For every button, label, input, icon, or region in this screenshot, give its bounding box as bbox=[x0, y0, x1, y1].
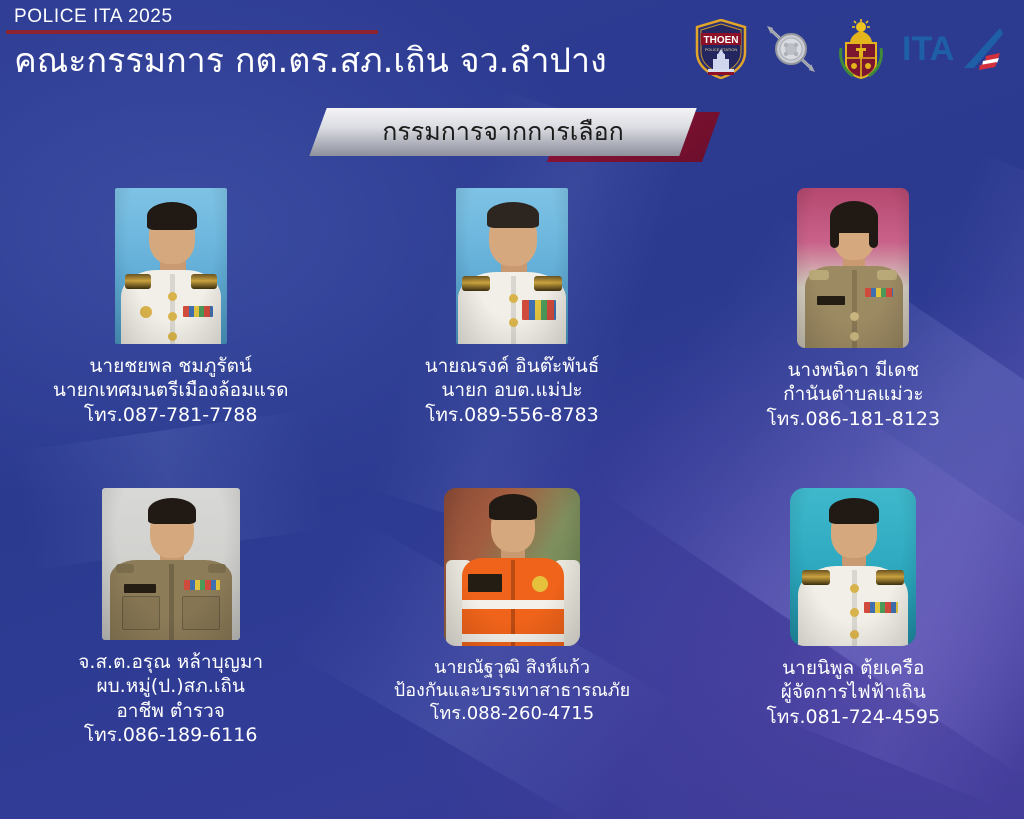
member-name: นายณัฐวุฒิ สิงห์แก้ว bbox=[394, 656, 630, 679]
members-grid: นายชยพล ชมภูรัตน์ นายกเทศมนตรีเมืองล้อมแ… bbox=[0, 188, 1024, 808]
member-caption-4: จ.ส.ต.อรุณ หล้าบุญมา ผบ.หมู่(ป.)สภ.เถิน … bbox=[78, 650, 263, 747]
member-name: นายชยพล ชมภูรัตน์ bbox=[53, 354, 289, 378]
member-position: นายกเทศมนตรีเมืองล้อมแรด bbox=[53, 378, 289, 402]
royal-thai-police-crest-logo bbox=[834, 18, 888, 80]
member-caption-5: นายณัฐวุฒิ สิงห์แก้ว ป้องกันและบรรเทาสาธ… bbox=[394, 656, 630, 725]
member-photo-4 bbox=[102, 488, 240, 640]
banner-label: กรรมการจากการเลือก bbox=[318, 108, 688, 156]
member-card-2[interactable]: นายณรงค์ อินต๊ะพันธ์ นายก อบต.แม่ปะ โทร.… bbox=[341, 188, 682, 488]
member-card-3[interactable]: นางพนิดา มีเดช กำนันตำบลแม่วะ โทร.086-18… bbox=[683, 188, 1024, 488]
member-phone: โทร.081-724-4595 bbox=[767, 705, 941, 729]
page-title: คณะกรรมการ กต.ตร.สภ.เถิน จว.ลำปาง bbox=[14, 33, 607, 87]
members-row: จ.ส.ต.อรุณ หล้าบุญมา ผบ.หมู่(ป.)สภ.เถิน … bbox=[0, 488, 1024, 808]
eyebrow-label: POLICE ITA 2025 bbox=[14, 6, 173, 28]
slide-root: POLICE ITA 2025 คณะกรรมการ กต.ตร.สภ.เถิน… bbox=[0, 0, 1024, 819]
member-card-5[interactable]: นายณัฐวุฒิ สิงห์แก้ว ป้องกันและบรรเทาสาธ… bbox=[341, 488, 682, 808]
member-card-4[interactable]: จ.ส.ต.อรุณ หล้าบุญมา ผบ.หมู่(ป.)สภ.เถิน … bbox=[0, 488, 341, 808]
member-occupation: อาชีพ ตำรวจ bbox=[78, 699, 263, 723]
member-position: ป้องกันและบรรเทาสาธารณภัย bbox=[394, 679, 630, 702]
member-phone: โทร.086-189-6116 bbox=[78, 723, 263, 747]
member-position: ผบ.หมู่(ป.)สภ.เถิน bbox=[78, 674, 263, 698]
section-banner: กรรมการจากการเลือก bbox=[318, 108, 714, 158]
logo-row: THOEN POLICE STATION bbox=[694, 18, 1006, 80]
member-phone: โทร.089-556-8783 bbox=[425, 403, 600, 427]
member-photo-6 bbox=[790, 488, 916, 646]
member-phone: โทร.088-260-4715 bbox=[394, 702, 630, 725]
svg-text:THOEN: THOEN bbox=[704, 35, 739, 46]
svg-text:ITA: ITA bbox=[902, 30, 954, 68]
member-position: นายก อบต.แม่ปะ bbox=[425, 378, 600, 402]
member-caption-3: นางพนิดา มีเดช กำนันตำบลแม่วะ โทร.086-18… bbox=[767, 358, 941, 431]
member-phone: โทร.087-781-7788 bbox=[53, 403, 289, 427]
member-caption-6: นายนิพูล ตุ้ยเครือ ผู้จัดการไฟฟ้าเถิน โท… bbox=[767, 656, 941, 729]
member-position: ผู้จัดการไฟฟ้าเถิน bbox=[767, 680, 941, 704]
member-card-1[interactable]: นายชยพล ชมภูรัตน์ นายกเทศมนตรีเมืองล้อมแ… bbox=[0, 188, 341, 488]
member-photo-3 bbox=[797, 188, 909, 348]
ita-logo: ITA bbox=[902, 26, 1006, 72]
member-card-6[interactable]: นายนิพูล ตุ้ยเครือ ผู้จัดการไฟฟ้าเถิน โท… bbox=[683, 488, 1024, 808]
member-caption-1: นายชยพล ชมภูรัตน์ นายกเทศมนตรีเมืองล้อมแ… bbox=[53, 354, 289, 427]
members-row: นายชยพล ชมภูรัตน์ นายกเทศมนตรีเมืองล้อมแ… bbox=[0, 188, 1024, 488]
thoen-police-station-logo: THOEN POLICE STATION bbox=[694, 19, 748, 79]
member-phone: โทร.086-181-8123 bbox=[767, 407, 941, 431]
silver-medal-emblem-logo bbox=[762, 21, 820, 77]
member-name: นายณรงค์ อินต๊ะพันธ์ bbox=[425, 354, 600, 378]
member-position: กำนันตำบลแม่วะ bbox=[767, 382, 941, 406]
member-name: นางพนิดา มีเดช bbox=[767, 358, 941, 382]
header: POLICE ITA 2025 คณะกรรมการ กต.ตร.สภ.เถิน… bbox=[0, 0, 1024, 96]
member-name: จ.ส.ต.อรุณ หล้าบุญมา bbox=[78, 650, 263, 674]
member-name: นายนิพูล ตุ้ยเครือ bbox=[767, 656, 941, 680]
member-photo-2 bbox=[456, 188, 568, 344]
member-photo-1 bbox=[115, 188, 227, 344]
member-photo-5 bbox=[444, 488, 580, 646]
member-caption-2: นายณรงค์ อินต๊ะพันธ์ นายก อบต.แม่ปะ โทร.… bbox=[425, 354, 600, 427]
